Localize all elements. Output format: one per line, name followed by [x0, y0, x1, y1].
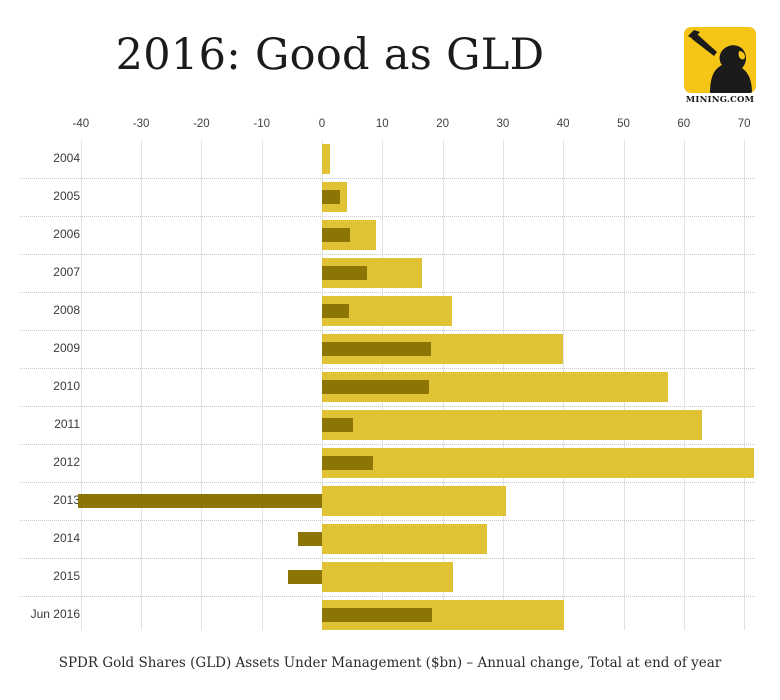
- bar-change-2012: [322, 456, 373, 470]
- miner-pickaxe-icon: [684, 27, 756, 93]
- chart-row: Jun 2016: [0, 596, 780, 634]
- chart-row: 2009: [0, 330, 780, 368]
- x-tick--30: -30: [121, 118, 161, 130]
- category-label-2004: 2004: [0, 151, 80, 165]
- bar-total-2013: [322, 486, 506, 516]
- bar-total-2011: [322, 410, 702, 440]
- chart-row: 2011: [0, 406, 780, 444]
- chart-row: 2010: [0, 368, 780, 406]
- category-label-2008: 2008: [0, 303, 80, 317]
- x-tick-30: 30: [483, 118, 523, 130]
- chart-row: 2006: [0, 216, 780, 254]
- chart-row: 2005: [0, 178, 780, 216]
- x-tick-10: 10: [362, 118, 402, 130]
- bar-change-2013: [78, 494, 322, 508]
- chart-header: 2016: Good as GLD MINING.COM: [0, 0, 780, 118]
- bar-total-2004: [322, 144, 330, 174]
- bar-change-2007: [322, 266, 367, 280]
- category-label-2014: 2014: [0, 531, 80, 545]
- page-title: 2016: Good as GLD: [0, 30, 660, 80]
- chart-row: 2004: [0, 140, 780, 178]
- bar-total-2015: [322, 562, 453, 592]
- bar-total-2014: [322, 524, 487, 554]
- chart-row: 2015: [0, 558, 780, 596]
- bar-change-2010: [322, 380, 429, 394]
- chart-row: 2012: [0, 444, 780, 482]
- x-tick--20: -20: [181, 118, 221, 130]
- bar-change-2006: [322, 228, 350, 242]
- logo-wordmark: MINING.COM: [684, 95, 756, 105]
- x-tick-60: 60: [664, 118, 704, 130]
- chart-row: 2008: [0, 292, 780, 330]
- bar-change-2009: [322, 342, 431, 356]
- mining-com-logo: MINING.COM: [684, 27, 756, 113]
- category-label-2005: 2005: [0, 189, 80, 203]
- category-label-2009: 2009: [0, 341, 80, 355]
- bar-chart: -40-30-20-10010203040506070 200420052006…: [0, 118, 780, 643]
- x-tick-70: 70: [724, 118, 764, 130]
- category-label-2007: 2007: [0, 265, 80, 279]
- chart-row: 2013: [0, 482, 780, 520]
- chart-caption: SPDR Gold Shares (GLD) Assets Under Mana…: [0, 655, 780, 671]
- bar-total-2012: [322, 448, 754, 478]
- category-label-2012: 2012: [0, 455, 80, 469]
- bar-change-2008: [322, 304, 349, 318]
- x-tick--10: -10: [242, 118, 282, 130]
- category-label-2006: 2006: [0, 227, 80, 241]
- category-label-2010: 2010: [0, 379, 80, 393]
- bar-change-2011: [322, 418, 353, 432]
- chart-row: 2014: [0, 520, 780, 558]
- category-label-2013: 2013: [0, 493, 80, 507]
- bar-change-2014: [298, 532, 322, 546]
- x-tick--40: -40: [61, 118, 101, 130]
- category-label-2011: 2011: [0, 417, 80, 431]
- bar-change-2015: [288, 570, 322, 584]
- bar-change-jun-2016: [322, 608, 432, 622]
- x-tick-0: 0: [302, 118, 342, 130]
- x-tick-40: 40: [543, 118, 583, 130]
- x-tick-20: 20: [423, 118, 463, 130]
- chart-row: 2007: [0, 254, 780, 292]
- x-tick-50: 50: [604, 118, 644, 130]
- bar-change-2005: [322, 190, 340, 204]
- category-label-jun-2016: Jun 2016: [0, 607, 80, 621]
- category-label-2015: 2015: [0, 569, 80, 583]
